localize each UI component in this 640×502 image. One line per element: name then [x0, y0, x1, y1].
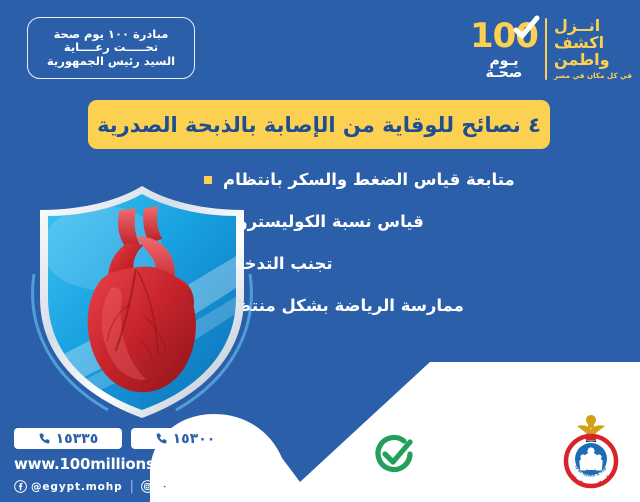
- instagram-icon[interactable]: [141, 480, 154, 493]
- twitter-icon[interactable]: [192, 480, 205, 493]
- hotline-number: ١٥٣٠٠: [173, 431, 216, 447]
- contact-footer: ١٥٣٣٥ ١٥٣٠٠ www.100millionseha.eg @egypt…: [14, 428, 314, 494]
- initiative-line-2: تحـــــت رعــــاية: [64, 41, 158, 55]
- ministry-of-health-and-population-icon: Ministry of Health & Population وزارة ال…: [556, 413, 626, 495]
- initiative-line-1: مبادرة ١٠٠ يوم صحة: [54, 28, 169, 42]
- hotline-row: ١٥٣٣٥ ١٥٣٠٠: [14, 428, 314, 449]
- slogan-line-3: واطمن: [554, 52, 610, 69]
- health-infographic-poster: مبادرة ١٠٠ يوم صحة تحـــــت رعــــاية ال…: [0, 0, 640, 502]
- check-icon: [511, 14, 541, 44]
- title-banner: ٤ نصائح للوقاية من الإصابة بالذبحة الصدر…: [88, 100, 550, 149]
- presidential-initiative-badge: مبادرة ١٠٠ يوم صحة تحـــــت رعــــاية ال…: [27, 17, 195, 79]
- facebook-icon[interactable]: [14, 480, 27, 493]
- hotline-number: ١٥٣٣٥: [56, 431, 99, 447]
- facebook-handle[interactable]: @egypt.mohp: [31, 481, 123, 493]
- phone-icon: [38, 432, 51, 445]
- logo-number-wrap: 100: [470, 19, 538, 53]
- phone-icon: [155, 432, 168, 445]
- social-links-row: @egypt.mohp |: [14, 479, 314, 494]
- campaign-slogan: انــزل اكشف واطمن في كل مكان في مصر: [554, 18, 632, 79]
- initiative-line-3: السيد رئيس الجمهورية: [47, 55, 175, 69]
- shared-social-handle[interactable]: @mohpegypt: [209, 481, 296, 493]
- tips-list: متابعة قياس الضغط والسكر بانتظام قياس نس…: [204, 170, 624, 315]
- campaign-logo: انــزل اكشف واطمن في كل مكان في مصر 100 …: [470, 8, 632, 90]
- slogan-subline: في كل مكان في مصر: [554, 72, 632, 80]
- website-url[interactable]: www.100millionseha.eg: [14, 455, 314, 473]
- hotline-pill[interactable]: ١٥٣٠٠: [131, 428, 239, 449]
- page-title: ٤ نصائح للوقاية من الإصابة بالذبحة الصدر…: [97, 113, 541, 137]
- linkedin-icon[interactable]: [175, 480, 188, 493]
- tip-label: متابعة قياس الضغط والسكر بانتظام: [223, 170, 515, 189]
- logo-subtitle-2: صحـة: [486, 66, 523, 80]
- circle-check-icon: [372, 432, 416, 476]
- logo-divider: [545, 18, 547, 80]
- social-separator: |: [130, 479, 134, 494]
- youtube-icon[interactable]: [158, 480, 171, 493]
- campaign-logo-mark: 100 يـوم صحـة: [470, 19, 538, 80]
- hotline-pill[interactable]: ١٥٣٣٥: [14, 428, 122, 449]
